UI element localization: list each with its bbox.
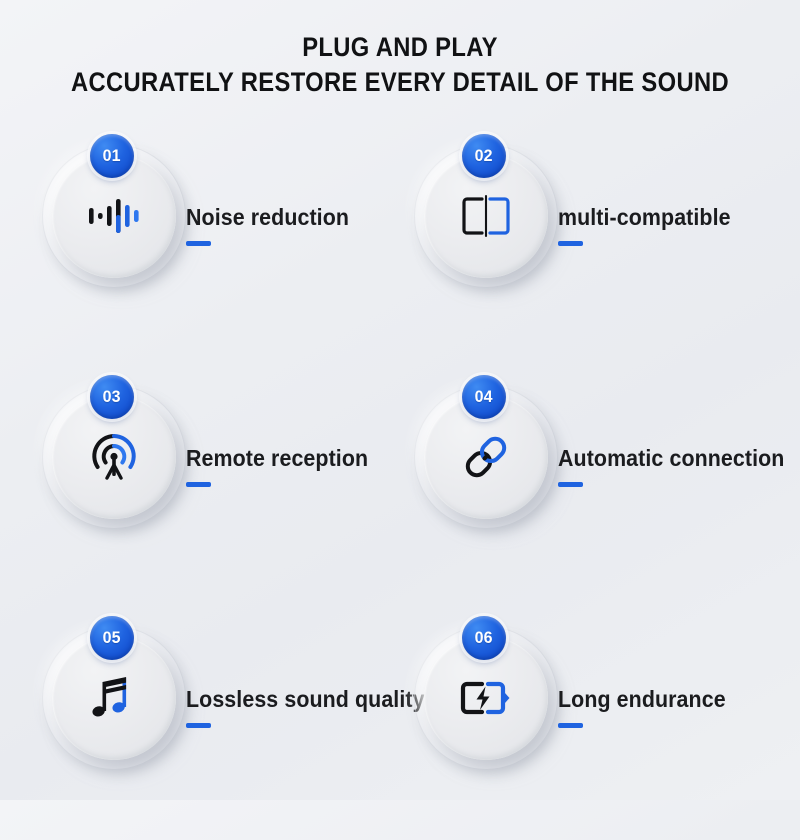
feature-label-block: Automatic connection: [558, 445, 764, 487]
feature-label: Lossless sound quality: [186, 686, 378, 712]
feature-label-block: Lossless sound quality: [186, 686, 392, 728]
feature-disc: 05: [40, 624, 188, 772]
feature-label: Long endurance: [558, 686, 750, 712]
infographic-page: PLUG AND PLAY ACCURATELY RESTORE EVERY D…: [0, 0, 800, 800]
feature-disc: 01: [40, 142, 188, 290]
feature-number-badge: 03: [90, 375, 134, 419]
feature-number-badge: 02: [462, 134, 506, 178]
feature-number-text: 03: [103, 387, 121, 407]
feature-label-block: Noise reduction: [186, 204, 392, 246]
feature-number-text: 01: [103, 146, 121, 166]
feature-underline-rule: [186, 723, 211, 728]
feature-label-block: Long endurance: [558, 686, 764, 728]
page-title: PLUG AND PLAY ACCURATELY RESTORE EVERY D…: [0, 30, 800, 100]
feature-label: multi-compatible: [558, 204, 750, 230]
feature-number-badge: 01: [90, 134, 134, 178]
feature-label: Remote reception: [186, 445, 378, 471]
feature-grid: 01 Noise reduction: [0, 118, 800, 798]
feature-underline-rule: [186, 241, 211, 246]
feature-underline-rule: [186, 482, 211, 487]
feature-number-text: 05: [103, 628, 121, 648]
feature-underline-rule: [558, 241, 583, 246]
feature-label-block: multi-compatible: [558, 204, 764, 246]
feature-number-badge: 06: [462, 616, 506, 660]
feature-number-text: 02: [475, 146, 493, 166]
feature-label: Noise reduction: [186, 204, 378, 230]
feature-label: Automatic connection: [558, 445, 750, 471]
feature-card-long-endurance[interactable]: 06 Long endurance: [386, 600, 758, 840]
feature-disc: 04: [412, 383, 560, 531]
feature-number-badge: 05: [90, 616, 134, 660]
feature-card-remote-reception[interactable]: 03 Remote reception: [14, 359, 386, 599]
title-line-2: ACCURATELY RESTORE EVERY DETAIL OF THE S…: [48, 64, 752, 100]
title-line-1: PLUG AND PLAY: [48, 30, 752, 64]
feature-number-badge: 04: [462, 375, 506, 419]
feature-card-multi-compatible[interactable]: 02 multi-compatible: [386, 118, 758, 358]
feature-number-text: 04: [475, 387, 493, 407]
feature-underline-rule: [558, 482, 583, 487]
feature-card-automatic-connection[interactable]: 04 Automatic connection: [386, 359, 758, 599]
feature-label-block: Remote reception: [186, 445, 392, 487]
feature-disc: 02: [412, 142, 560, 290]
feature-card-lossless-sound-quality[interactable]: 05 Lossless sound quality: [14, 600, 386, 840]
feature-number-text: 06: [475, 628, 493, 648]
feature-disc: 03: [40, 383, 188, 531]
feature-card-noise-reduction[interactable]: 01 Noise reduction: [14, 118, 386, 358]
feature-underline-rule: [558, 723, 583, 728]
feature-disc: 06: [412, 624, 560, 772]
